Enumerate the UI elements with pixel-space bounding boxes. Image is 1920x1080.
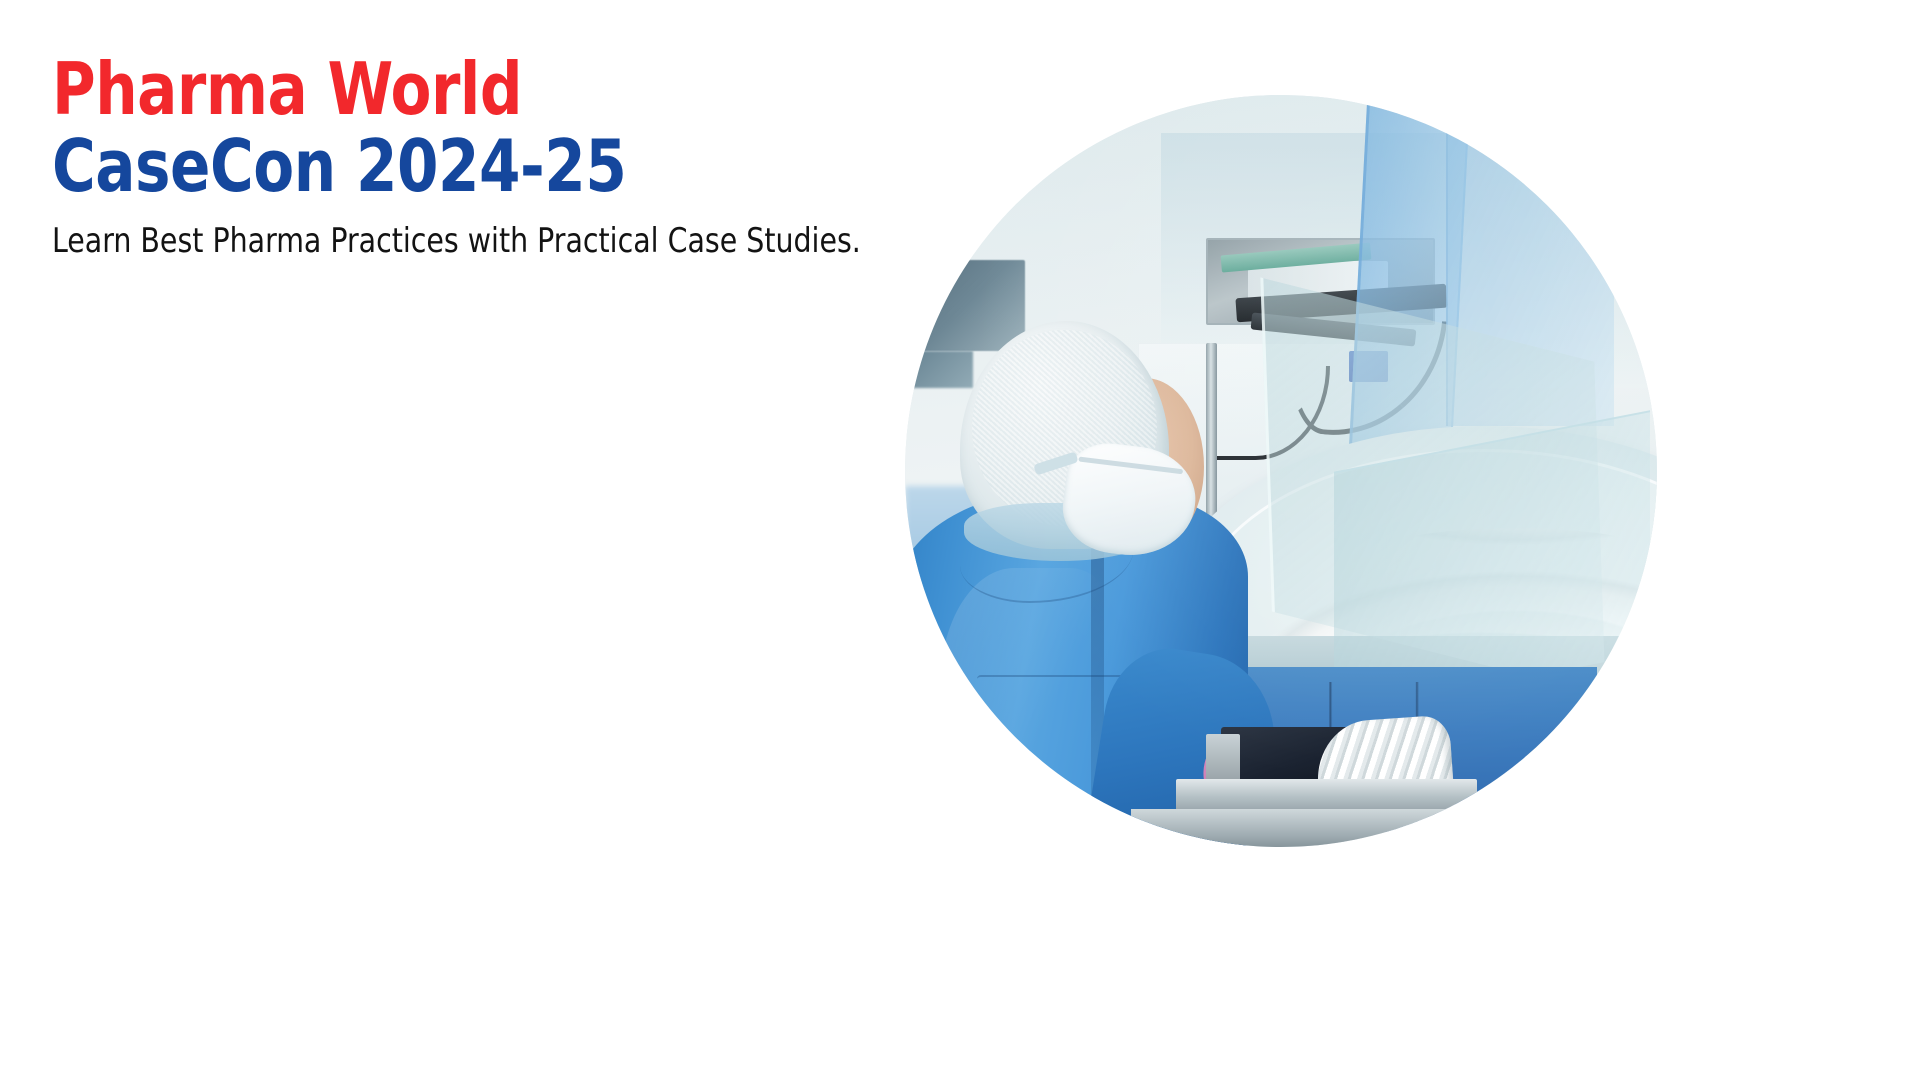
slide-canvas: Pharma World CaseCon 2024-25 Learn Best … — [0, 0, 1920, 1080]
machine-steel-bar-lower — [1131, 809, 1477, 847]
headline-line-1: Pharma World — [52, 54, 788, 125]
page-title: Pharma World CaseCon 2024-25 — [52, 54, 788, 201]
headline-text-block: Pharma World CaseCon 2024-25 Learn Best … — [52, 54, 852, 261]
hero-photo-circle — [905, 95, 1657, 847]
subtitle-text: Learn Best Pharma Practices with Practic… — [52, 221, 796, 261]
cleanroom-photo — [905, 95, 1657, 847]
headline-line-2: CaseCon 2024-25 — [52, 131, 788, 202]
